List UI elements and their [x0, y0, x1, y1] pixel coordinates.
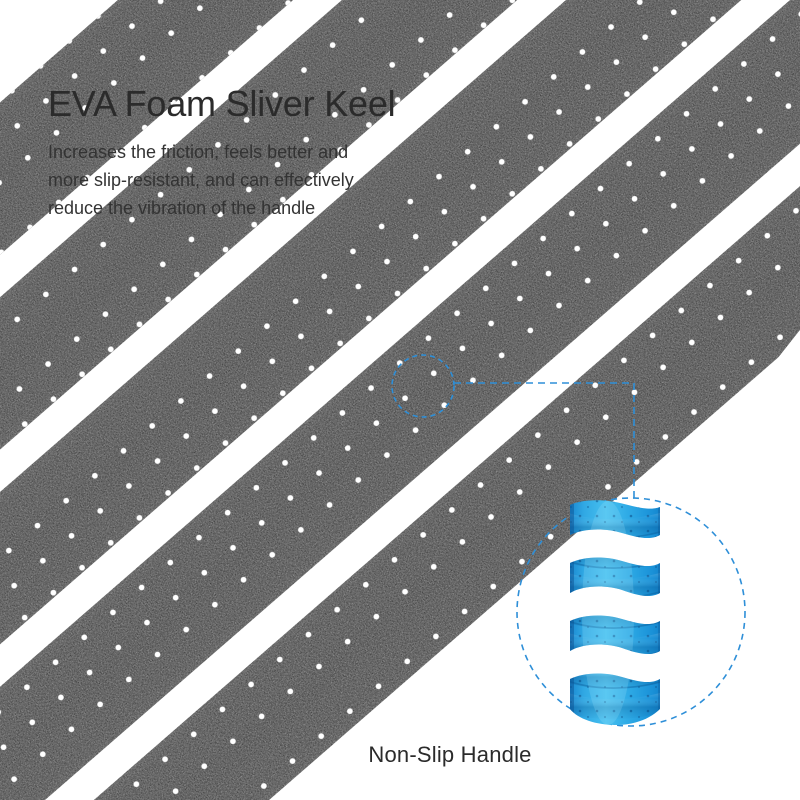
handle-grip-illustration [517, 497, 747, 729]
callout-caption-text: Non-Slip Handle [368, 742, 531, 768]
dashed-circle-icon [392, 355, 454, 417]
callout-caption: Non-Slip Handle [0, 742, 800, 768]
grip-body [558, 497, 680, 729]
handle-grip-icon [517, 497, 747, 729]
product-feature-image: EVA Foam Sliver Keel Increases the frict… [0, 0, 800, 800]
dashed-connector-icon [454, 383, 634, 500]
